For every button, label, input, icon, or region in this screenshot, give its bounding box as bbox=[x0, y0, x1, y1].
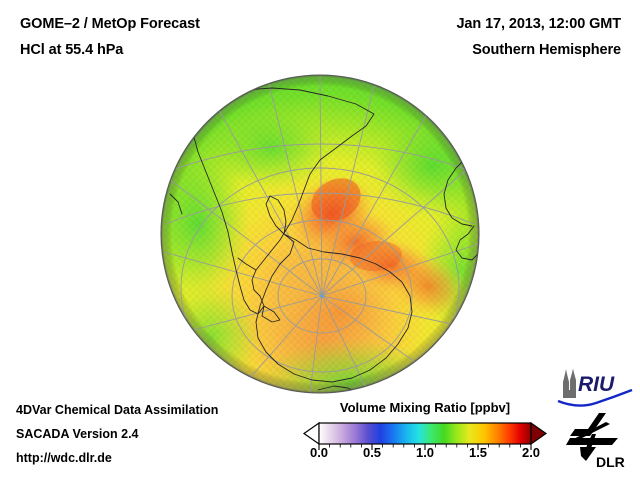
colorbar: Volume Mixing Ratio [ppbv] bbox=[300, 400, 550, 472]
colorbar-tick-label-2: 1.0 bbox=[416, 445, 434, 460]
footer-url[interactable]: http://wdc.dlr.de bbox=[16, 451, 112, 465]
coastline-new-zealand bbox=[208, 364, 230, 384]
riu-wordmark: RIU bbox=[578, 373, 615, 396]
dlr-logo: DLR bbox=[566, 412, 628, 470]
colorbar-over-arrow bbox=[531, 423, 546, 444]
south-pole-marker bbox=[320, 294, 323, 297]
title-hemisphere: Southern Hemisphere bbox=[472, 42, 621, 58]
cathedral-towers-icon bbox=[563, 369, 576, 399]
dlr-wordmark: DLR bbox=[596, 454, 625, 470]
title-product: GOME–2 / MetOp Forecast bbox=[20, 16, 200, 32]
globe-map bbox=[160, 74, 480, 394]
colorbar-tick-label-1: 0.5 bbox=[363, 445, 381, 460]
colorbar-under-arrow bbox=[304, 423, 319, 444]
footer-version: SACADA Version 2.4 bbox=[16, 427, 139, 441]
figure-canvas: GOME–2 / MetOp Forecast HCl at 55.4 hPa … bbox=[0, 0, 640, 480]
title-valid-time: Jan 17, 2013, 12:00 GMT bbox=[456, 16, 621, 32]
footer-method: 4DVar Chemical Data Assimilation bbox=[16, 403, 218, 417]
colorbar-tick-label-0: 0.0 bbox=[310, 445, 328, 460]
title-species-level: HCl at 55.4 hPa bbox=[20, 42, 123, 58]
colorbar-title: Volume Mixing Ratio [ppbv] bbox=[300, 400, 550, 415]
riu-logo: RIU bbox=[556, 368, 634, 410]
colorbar-tick-label-4: 2.0 bbox=[522, 445, 540, 460]
colorbar-tick-label-3: 1.5 bbox=[469, 445, 487, 460]
